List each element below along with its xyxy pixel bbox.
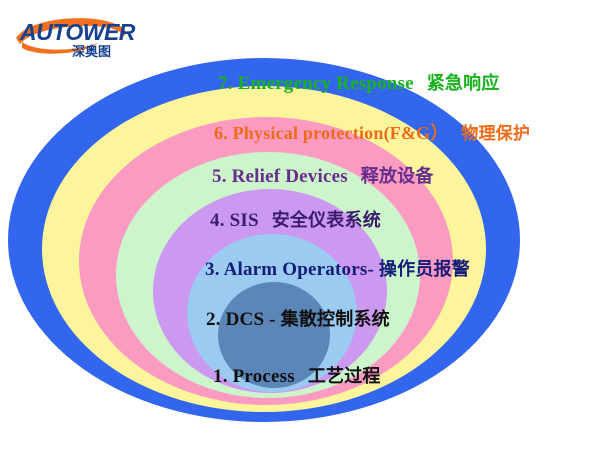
layer-3-english: Alarm Operators-	[224, 259, 374, 280]
layer-4-chinese: 安全仪表系统	[272, 210, 381, 231]
layer-6-number: 6.	[214, 123, 228, 143]
layer-2-number: 2.	[206, 309, 221, 330]
layer-4-number: 4.	[210, 210, 225, 231]
layer-caption-4: 4. SIS 安全仪表系统	[210, 211, 381, 230]
layer-5-english: Relief Devices	[232, 166, 348, 187]
slide-canvas: 7. Emergency Response 紧急响应 6. Physical p…	[0, 0, 600, 464]
layer-5-number: 5.	[212, 166, 227, 187]
layer-2-chinese: 集散控制系统	[281, 309, 390, 330]
layer-caption-3: 3. Alarm Operators- 操作员报警	[205, 260, 470, 279]
layer-7-number: 7.	[218, 73, 233, 94]
layer-caption-2: 2. DCS - 集散控制系统	[206, 310, 390, 329]
layer-caption-1: 1. Process 工艺过程	[213, 367, 381, 386]
logo-chinese-name: 深奥图	[72, 44, 111, 60]
layer-3-number: 3.	[205, 259, 220, 280]
logo-wordmark: AUTOWER	[19, 19, 136, 45]
layer-7-english: Emergency Response	[238, 73, 414, 94]
layer-2-english: DCS -	[226, 309, 276, 330]
layer-6-chinese: 物理保护	[461, 124, 530, 144]
layer-caption-7: 7. Emergency Response 紧急响应	[218, 74, 500, 93]
layers-of-protection-diagram	[0, 0, 600, 464]
layer-5-chinese: 释放设备	[361, 166, 434, 187]
layer-4-english: SIS	[230, 210, 259, 231]
layer-3-chinese: 操作员报警	[379, 259, 470, 280]
autower-logo: AUTOWER 深奥图	[14, 12, 144, 60]
layer-1-english: Process	[233, 366, 295, 387]
layer-7-chinese: 紧急响应	[427, 73, 500, 94]
layer-caption-5: 5. Relief Devices 释放设备	[212, 167, 434, 186]
layer-caption-6: 6. Physical protection(F&G） 物理保护	[214, 124, 530, 143]
layer-1-number: 1.	[213, 366, 228, 387]
layer-1-chinese: 工艺过程	[308, 366, 381, 387]
layer-6-english: Physical protection(F&G）	[233, 123, 449, 143]
